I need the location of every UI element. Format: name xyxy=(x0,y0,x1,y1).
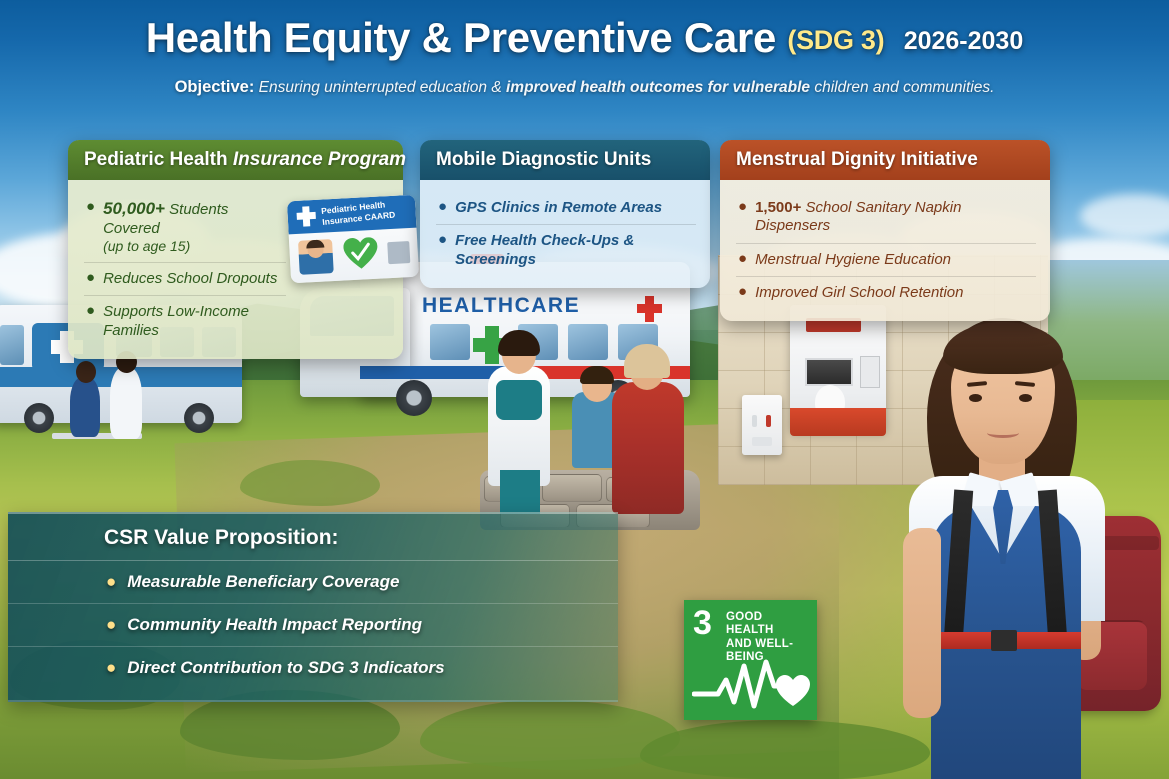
infographic-poster: HEALTHCARE xyxy=(0,0,1169,779)
card1-body: ● 50,000+ Students Covered (up to age 15… xyxy=(68,180,300,359)
list-item[interactable]: ● GPS Clinics in Remote Areas xyxy=(436,192,696,224)
card3-bullet-3: Improved Girl School Retention xyxy=(755,284,963,302)
mother-headscarf xyxy=(624,344,670,378)
bullet-dot: ● xyxy=(738,284,747,301)
list-item[interactable]: ● Free Health Check-Ups & Screenings xyxy=(436,224,696,276)
nurse-figure xyxy=(110,367,142,439)
bullet-dot: ● xyxy=(106,615,116,635)
card2-header: Mobile Diagnostic Units xyxy=(420,140,710,180)
csr-item-3: Direct Contribution to SDG 3 Indicators xyxy=(127,658,444,678)
card3-bullet-2: Menstrual Hygiene Education xyxy=(755,251,951,269)
card1-title-italic: Insurance Program xyxy=(233,149,406,170)
list-item[interactable]: ● Direct Contribution to SDG 3 Indicator… xyxy=(8,646,618,689)
objective-text-1: Ensuring uninterrupted education & xyxy=(259,79,502,96)
dispenser-slot xyxy=(805,358,853,386)
bullet-dot: ● xyxy=(106,658,116,678)
card1-bullet-3: Supports Low-Income Families xyxy=(103,303,284,340)
csr-value-proposition-panel: CSR Value Proposition: ● Measurable Bene… xyxy=(8,512,618,702)
objective-label: Objective: xyxy=(175,78,255,96)
bullet-dot: ● xyxy=(438,199,447,216)
list-item[interactable]: ● Measurable Beneficiary Coverage xyxy=(8,561,618,603)
card3-header: Menstrual Dignity Initiative xyxy=(720,140,1050,180)
card2-title: Mobile Diagnostic Units xyxy=(436,149,651,170)
card1-bullet-1-strong: 50,000+ xyxy=(103,199,165,218)
card3-bullet-1: 1,500+ School Sanitary Napkin Dispensers xyxy=(755,199,1034,236)
list-item[interactable]: ● Improved Girl School Retention xyxy=(736,276,1036,309)
card1-title-plain: Pediatric Health xyxy=(84,149,233,170)
card2-body: ● GPS Clinics in Remote Areas ● Free Hea… xyxy=(420,180,710,288)
list-item[interactable]: ● Reduces School Dropouts xyxy=(84,262,286,295)
bullet-dot: ● xyxy=(86,303,95,320)
objective-text-2: improved health outcomes for vulnerable xyxy=(506,79,810,96)
list-item[interactable]: ● 50,000+ Students Covered (up to age 15… xyxy=(84,192,286,262)
pediatric-insurance-card-graphic: Pediatric Health Insurance CAARD xyxy=(287,195,419,284)
bullet-dot: ● xyxy=(86,270,95,287)
card-menstrual-dignity-initiative[interactable]: Menstrual Dignity Initiative ● 1,500+ Sc… xyxy=(720,140,1050,321)
card1-bullet-1: 50,000+ Students Covered (up to age 15) xyxy=(103,199,284,255)
patient-figure xyxy=(70,377,100,437)
girl-left-arm xyxy=(903,528,941,718)
ambulance-label: HEALTHCARE xyxy=(422,294,580,318)
card-mobile-diagnostic-units[interactable]: Mobile Diagnostic Units ● GPS Clinics in… xyxy=(420,140,710,288)
card3-title: Menstrual Dignity Initiative xyxy=(736,149,978,170)
list-item[interactable]: ● 1,500+ School Sanitary Napkin Dispense… xyxy=(736,192,1036,243)
sdg-number: 3 xyxy=(693,606,712,640)
bullet-dot: ● xyxy=(106,572,116,592)
title-main: Health Equity & Preventive Care xyxy=(146,14,776,61)
bullet-dot: ● xyxy=(86,199,95,216)
sdg-3-badge[interactable]: 3 Good Health and Well-Being xyxy=(684,600,817,720)
objective-text-3: children and communities. xyxy=(814,79,994,96)
csr-item-1: Measurable Beneficiary Coverage xyxy=(127,572,399,592)
card1-bullet-2: Reduces School Dropouts xyxy=(103,270,277,288)
heartbeat-heart-icon xyxy=(692,656,810,715)
card2-bullet-2: Free Health Check-Ups & Screenings xyxy=(455,232,694,269)
doctor-and-family-scene xyxy=(480,330,700,520)
belt-buckle xyxy=(991,630,1017,651)
objective-line: Objective: Ensuring uninterrupted educat… xyxy=(0,78,1169,97)
hospital-icon xyxy=(387,241,410,264)
list-item[interactable]: ● Community Health Impact Reporting xyxy=(8,603,618,646)
bullet-dot: ● xyxy=(738,199,747,216)
csr-item-2: Community Health Impact Reporting xyxy=(127,615,422,635)
title-year-range: 2026-2030 xyxy=(904,27,1024,55)
card3-bullet-1-strong: 1,500+ xyxy=(755,199,801,216)
heart-checkmark-icon xyxy=(343,237,379,271)
sanitary-napkin-dispenser-small xyxy=(742,395,782,455)
card2-bullet-1: GPS Clinics in Remote Areas xyxy=(455,199,662,217)
doctor-scrubs xyxy=(496,380,542,420)
card1-header: Pediatric Health Insurance Program xyxy=(68,140,403,180)
card1-bullet-1-sub: (up to age 15) xyxy=(103,238,284,255)
page-title: Health Equity & Preventive Care (SDG 3) … xyxy=(0,14,1169,62)
patient-head xyxy=(76,361,96,383)
sdg-label-line1: Good Health xyxy=(726,611,812,638)
card3-body: ● 1,500+ School Sanitary Napkin Dispense… xyxy=(720,180,1050,321)
schoolgirl-photo xyxy=(869,300,1169,779)
title-sdg-tag: (SDG 3) xyxy=(787,25,884,55)
list-item[interactable]: ● Supports Low-Income Families xyxy=(84,295,286,347)
doctor-legs xyxy=(500,470,540,514)
list-item[interactable]: ● Menstrual Hygiene Education xyxy=(736,243,1036,276)
bullet-dot: ● xyxy=(438,232,447,249)
mother-figure xyxy=(612,382,684,514)
bullet-dot: ● xyxy=(738,251,747,268)
csr-panel-title: CSR Value Proposition: xyxy=(8,514,618,561)
